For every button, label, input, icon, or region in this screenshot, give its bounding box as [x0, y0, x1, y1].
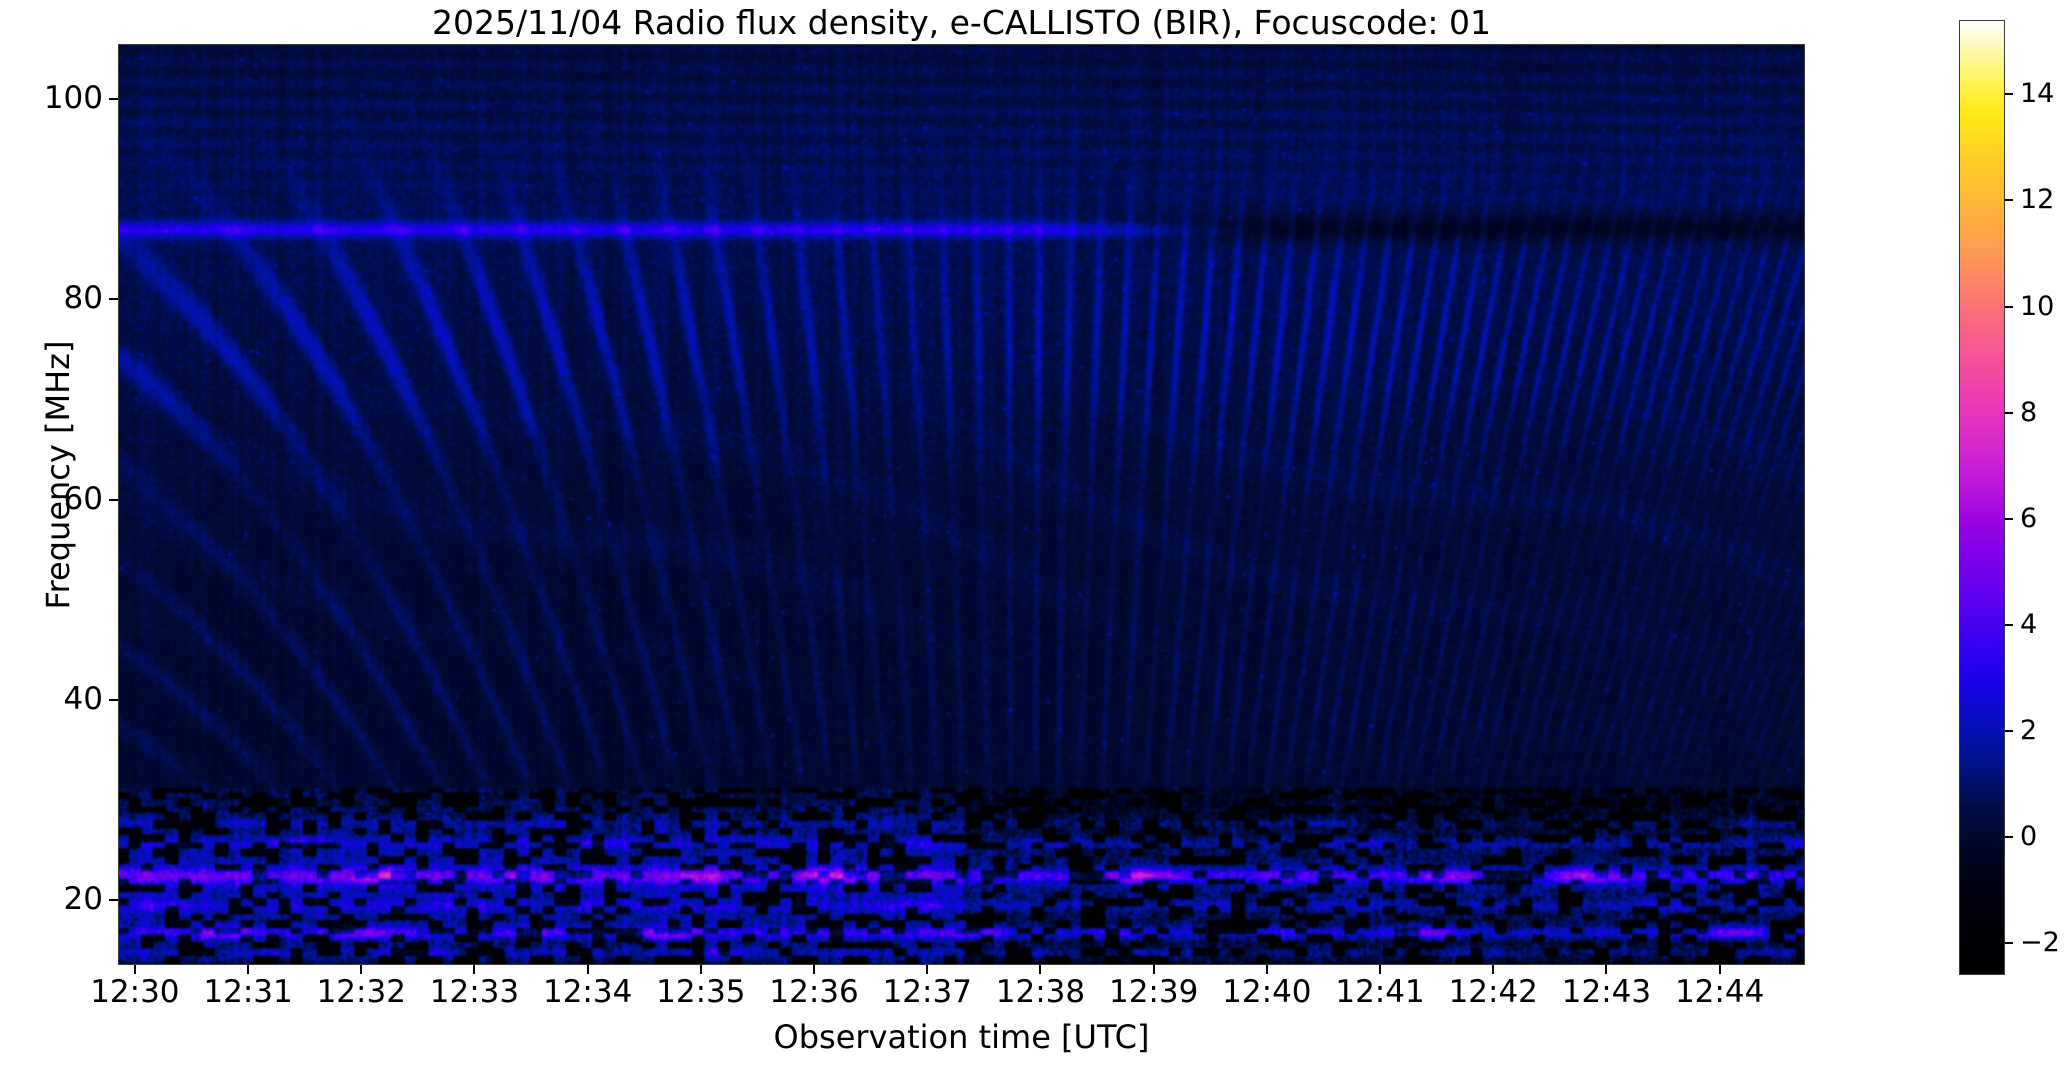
x-tick-mark [1492, 965, 1494, 974]
colorbar-gradient [1960, 21, 2004, 974]
colorbar-tick-label-14: 14 [2020, 80, 2066, 107]
colorbar-tick-mark [2005, 730, 2013, 732]
colorbar-tick-mark [2005, 93, 2013, 95]
colorbar-tick-mark [2005, 412, 2013, 414]
y-tick-mark [109, 298, 118, 300]
colorbar-tick-mark [2005, 518, 2013, 520]
colorbar-tick-label-10: 10 [2020, 293, 2066, 320]
spectrogram-axes[interactable] [118, 44, 1805, 965]
colorbar-tick-mark [2005, 306, 2013, 308]
y-axis-label: Frequency [MHz] [39, 25, 77, 925]
colorbar-tick-label-6: 6 [2020, 505, 2066, 532]
y-tick-label-80: 80 [0, 283, 103, 314]
x-tick-mark [247, 965, 249, 974]
colorbar-tick-label-minus2: −2 [2020, 929, 2066, 956]
y-tick-mark [109, 699, 118, 701]
colorbar-tick-mark [2005, 942, 2013, 944]
x-tick-mark [1605, 965, 1607, 974]
x-tick-mark [1379, 965, 1381, 974]
x-tick-mark [134, 965, 136, 974]
x-tick-mark [1719, 965, 1721, 974]
x-tick-mark [813, 965, 815, 974]
x-tick-mark [360, 965, 362, 974]
y-tick-mark [109, 899, 118, 901]
colorbar-tick-label-2: 2 [2020, 717, 2066, 744]
x-tick-label-12-44: 12:44 [1620, 975, 1820, 1009]
x-tick-mark [1266, 965, 1268, 974]
y-tick-label-60: 60 [0, 484, 103, 515]
x-tick-mark [926, 965, 928, 974]
colorbar-tick-mark [2005, 199, 2013, 201]
x-tick-mark [1039, 965, 1041, 974]
y-tick-label-100: 100 [0, 83, 103, 114]
x-tick-mark [587, 965, 589, 974]
colorbar-tick-label-12: 12 [2020, 186, 2066, 213]
colorbar-tick-label-8: 8 [2020, 399, 2066, 426]
x-axis-label: Observation time [UTC] [118, 1018, 1805, 1056]
colorbar-tick-mark [2005, 624, 2013, 626]
colorbar-tick-mark [2005, 836, 2013, 838]
colorbar-axes[interactable] [1959, 20, 2005, 975]
colorbar-tick-label-4: 4 [2020, 611, 2066, 638]
spectrogram-image [119, 45, 1804, 964]
y-tick-label-20: 20 [0, 884, 103, 915]
y-tick-mark [109, 499, 118, 501]
x-tick-mark [1153, 965, 1155, 974]
figure-canvas: 2025/11/04 Radio flux density, e-CALLIST… [0, 0, 2066, 1067]
x-tick-mark [700, 965, 702, 974]
page-title: 2025/11/04 Radio flux density, e-CALLIST… [118, 4, 1805, 42]
y-tick-label-40: 40 [0, 684, 103, 715]
y-tick-mark [109, 98, 118, 100]
colorbar-tick-label-0: 0 [2020, 823, 2066, 850]
x-tick-mark [473, 965, 475, 974]
